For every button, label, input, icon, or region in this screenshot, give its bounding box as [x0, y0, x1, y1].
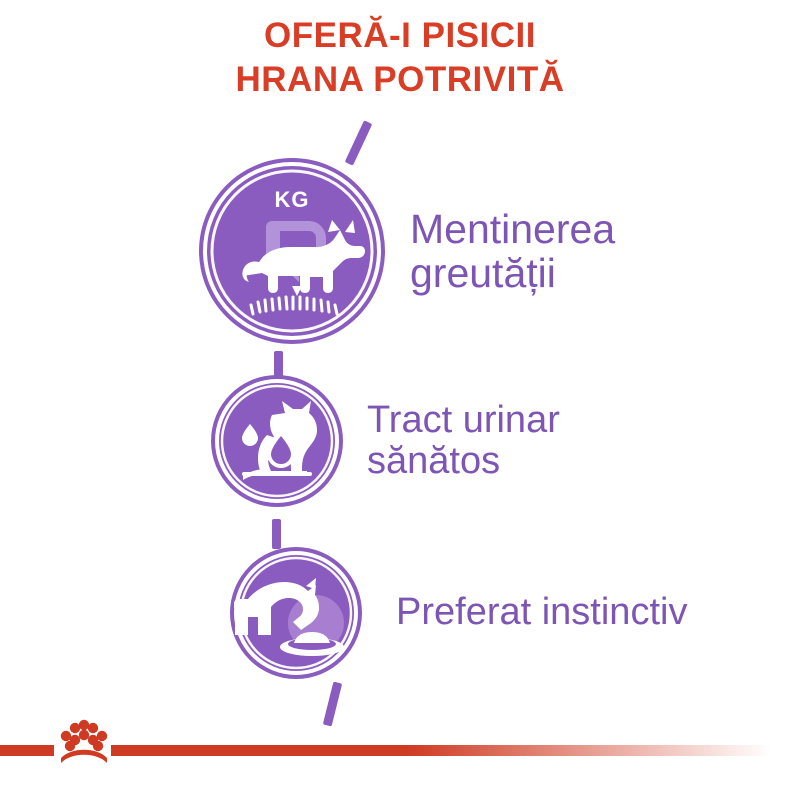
benefit-label-weight: Mentinerea greutății [410, 207, 615, 296]
brand-bar-right-segment [111, 745, 771, 756]
benefit-item-weight: KG [203, 162, 615, 340]
brand-bar [0, 745, 800, 757]
benefit-label-preference: Preferat instinctiv [396, 592, 687, 633]
royal-canin-crown-logo [55, 716, 113, 768]
svg-text:KG: KG [275, 187, 310, 212]
benefit-label-urinary: Tract urinar sănătos [367, 400, 560, 482]
benefit-item-urinary: Tract urinar sănătos [215, 379, 560, 503]
benefits-list: KG [0, 0, 800, 800]
poster-canvas: OFERĂ-I PISICII HRANA POTRIVITĂ KG [0, 0, 800, 800]
instinctive-preference-icon [234, 551, 358, 675]
brand-bar-left-segment [0, 745, 54, 756]
urinary-health-icon [215, 379, 339, 503]
benefit-item-preference: Preferat instinctiv [234, 551, 687, 675]
weight-maintenance-icon: KG [203, 162, 381, 340]
